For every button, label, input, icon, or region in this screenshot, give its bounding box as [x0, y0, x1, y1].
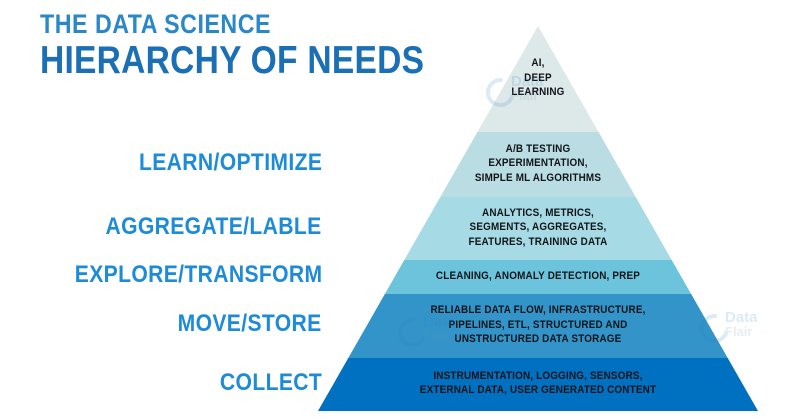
tier-label-instrumentation-logging: INSTRUMENTATION, LOGGING, SENSORS,EXTERN… [54, 369, 776, 398]
tier-label-line: LEARNING [177, 85, 802, 100]
tier-label-line: AI, [177, 56, 802, 71]
stage-label-explore-transform[interactable]: EXPLORE/TRANSFORM [74, 261, 322, 289]
tier-label-line: DEEP [177, 71, 802, 86]
stage-label-learn-optimize[interactable]: LEARN/OPTIMIZE [139, 149, 322, 177]
tier-label-ai-deep-learning: AI,DEEPLEARNING [54, 56, 776, 100]
infographic-canvas: THE DATA SCIENCE HIERARCHY OF NEEDS AI,D… [0, 0, 802, 420]
tier-label-reliable-data-flow: RELIABLE DATA FLOW, INFRASTRUCTURE,PIPEL… [54, 303, 776, 347]
stage-label-collect[interactable]: COLLECT [220, 369, 322, 397]
stage-label-move-store[interactable]: MOVE/STORE [178, 310, 322, 338]
stage-label-aggregate-lable[interactable]: AGGREGATE/LABLE [106, 213, 322, 241]
